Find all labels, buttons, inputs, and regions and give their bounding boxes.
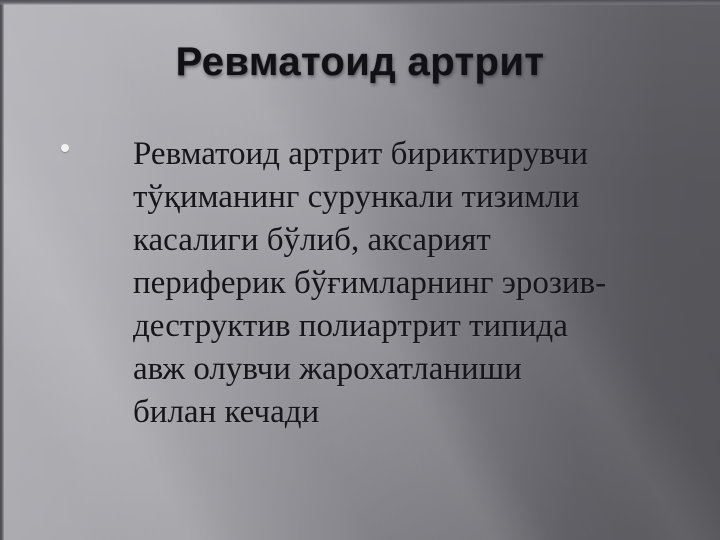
body-line: авж олувчи жарохатланиши [133, 348, 673, 391]
presentation-slide: Ревматоид артрит Ревматоид артрит бирикт… [0, 0, 720, 540]
bullet-dot-icon [61, 144, 69, 152]
body-line: билан кечади [133, 391, 673, 434]
body-line: Ревматоид артрит бириктирувчи [133, 133, 673, 176]
body-line: периферик бўғимларнинг эрозив- [133, 262, 673, 305]
slide-body-text: Ревматоид артрит бириктирувчи тўқиманинг… [133, 133, 673, 434]
body-line: деструктив полиартрит типида [133, 305, 673, 348]
slide-title: Ревматоид артрит [0, 40, 720, 85]
body-line: тўқиманинг сурункали тизимли [133, 176, 673, 219]
body-line: касалиги бўлиб, аксарият [133, 219, 673, 262]
